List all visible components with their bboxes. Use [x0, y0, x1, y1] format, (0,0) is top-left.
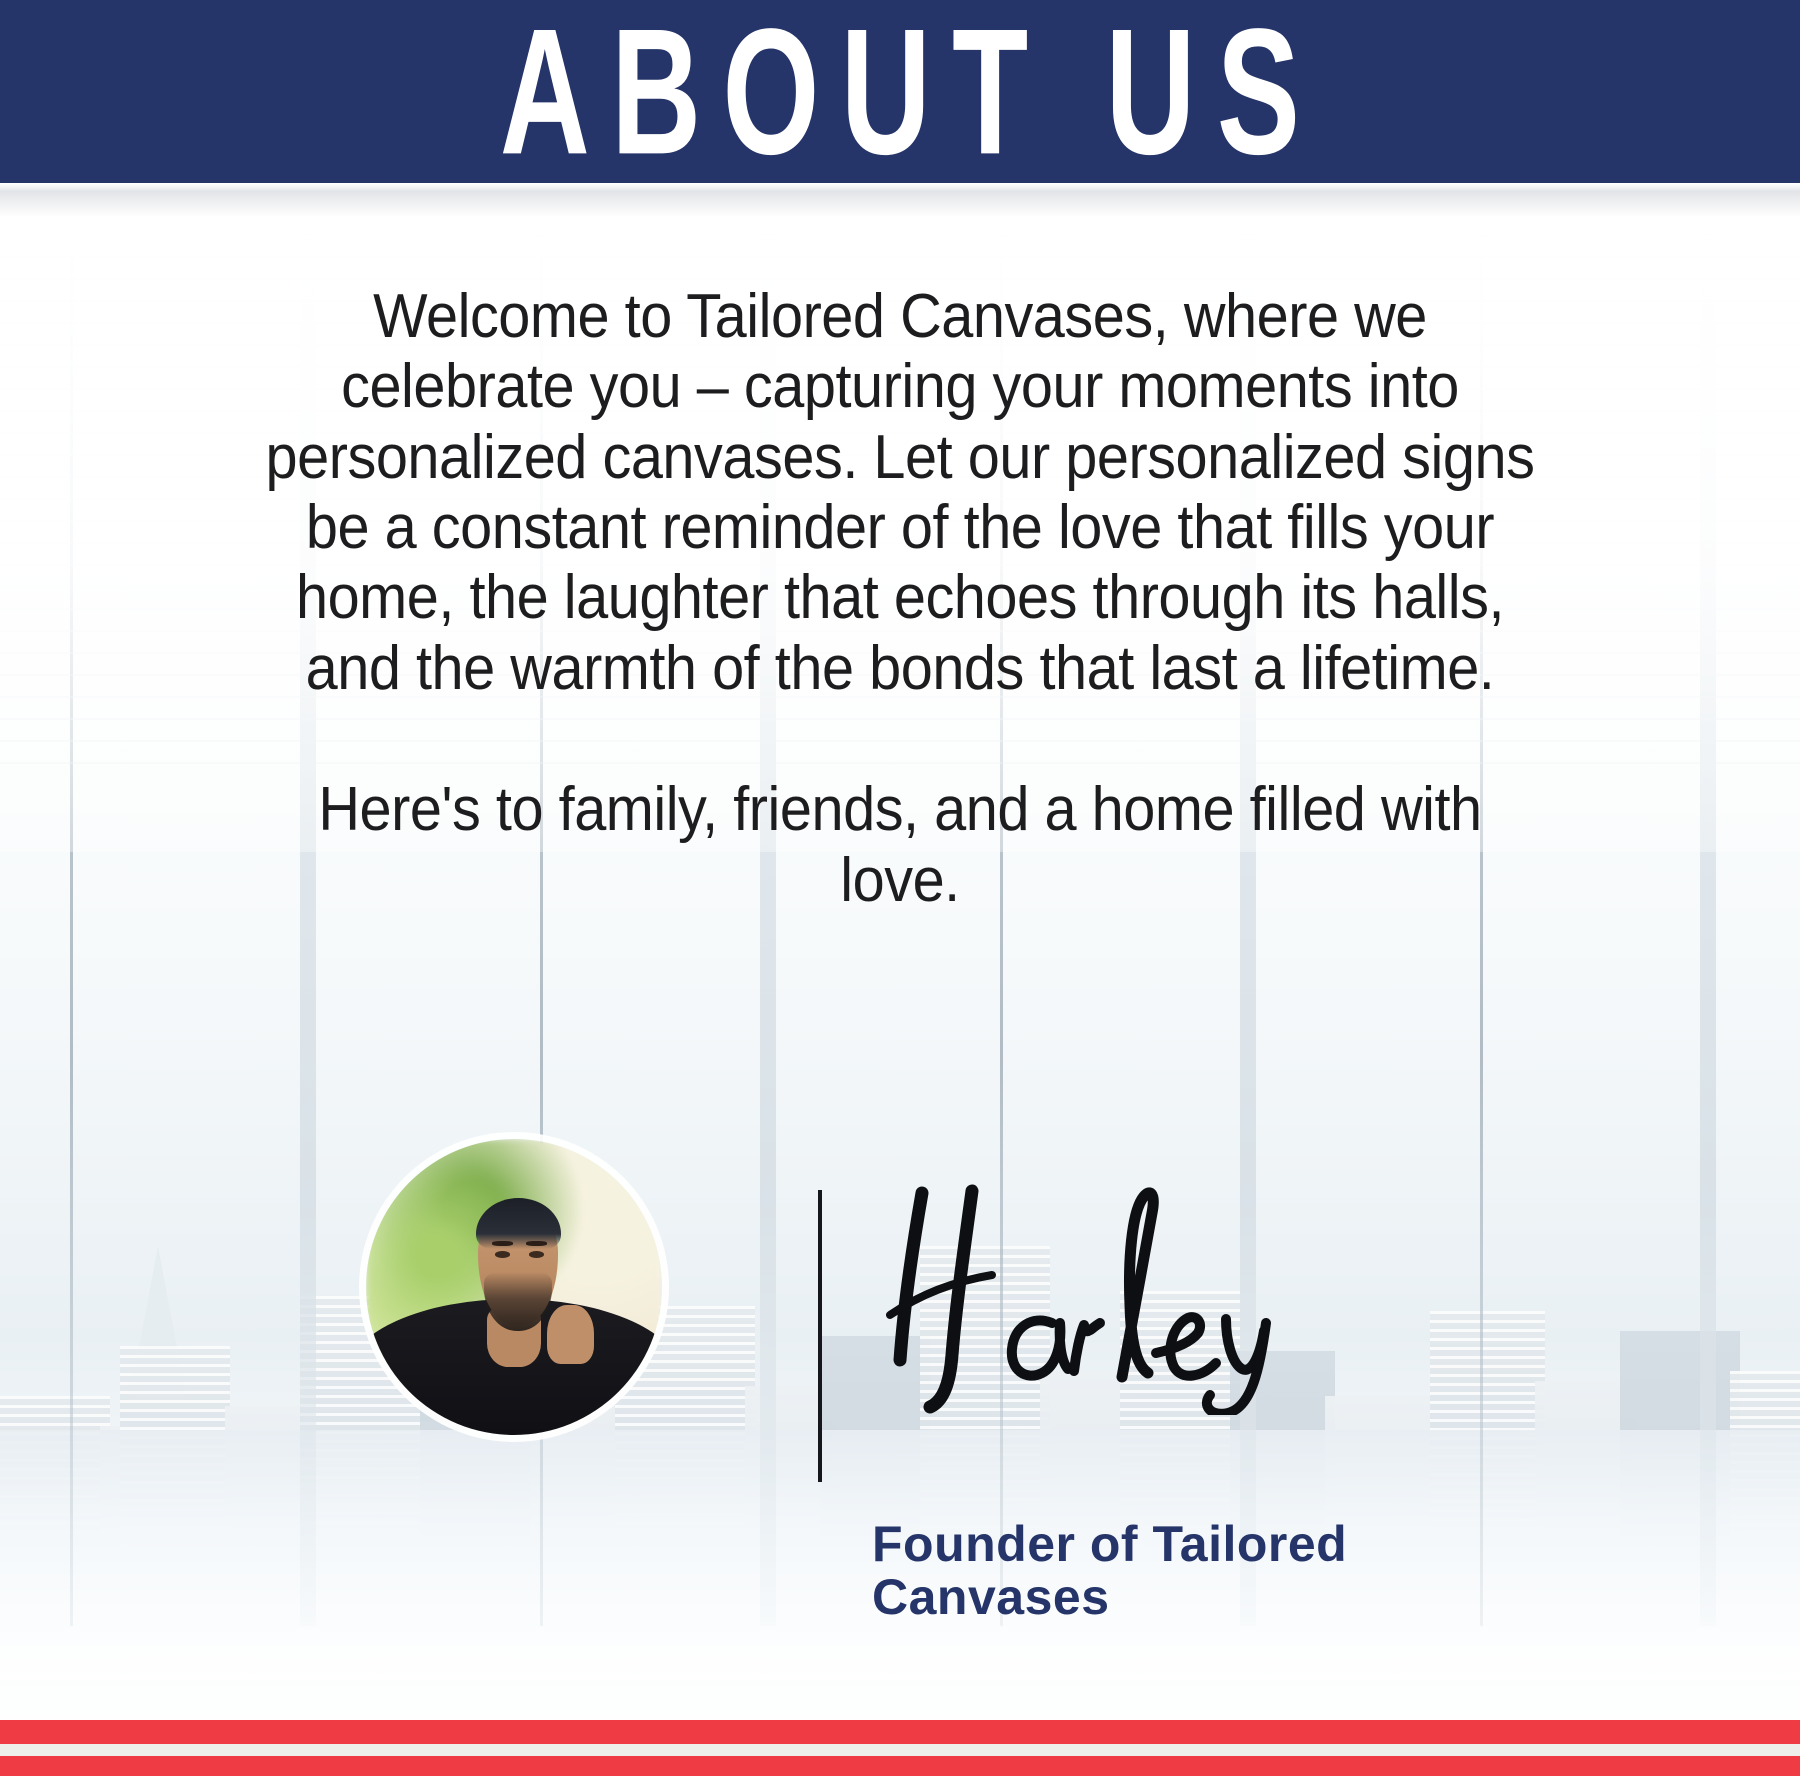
avatar-eyebrow-left — [492, 1241, 513, 1246]
founder-role-line-2: Canvases — [872, 1571, 1472, 1624]
banner-drop-shadow — [0, 191, 1800, 217]
header-banner: ABOUT US — [0, 0, 1800, 183]
avatar — [366, 1139, 662, 1435]
avatar-eyebrow-right — [526, 1241, 547, 1246]
avatar-eye-right — [529, 1251, 544, 1258]
avatar-eye-left — [495, 1251, 510, 1258]
about-paragraph-1: Welcome to Tailored Canvases, where we c… — [258, 282, 1541, 704]
banner-underline — [0, 183, 1800, 191]
page-title: ABOUT US — [479, 2, 1322, 181]
signature-script-harley — [860, 1155, 1360, 1415]
about-copy: Welcome to Tailored Canvases, where we c… — [258, 282, 1541, 916]
signature-icon — [860, 1155, 1360, 1415]
about-paragraph-2: Here's to family, friends, and a home fi… — [258, 775, 1541, 916]
founder-role-line-1: Founder of Tailored — [872, 1518, 1472, 1571]
footer-stripe-gap — [0, 1744, 1800, 1756]
founder-role: Founder of Tailored Canvases — [872, 1518, 1472, 1624]
signature-divider — [818, 1190, 822, 1482]
footer-stripe-bottom — [0, 1756, 1800, 1776]
footer-stripe-top — [0, 1720, 1800, 1744]
avatar-hand — [547, 1305, 594, 1364]
about-us-poster: ABOUT US Welcome to Tailored Canvases, w… — [0, 0, 1800, 1776]
